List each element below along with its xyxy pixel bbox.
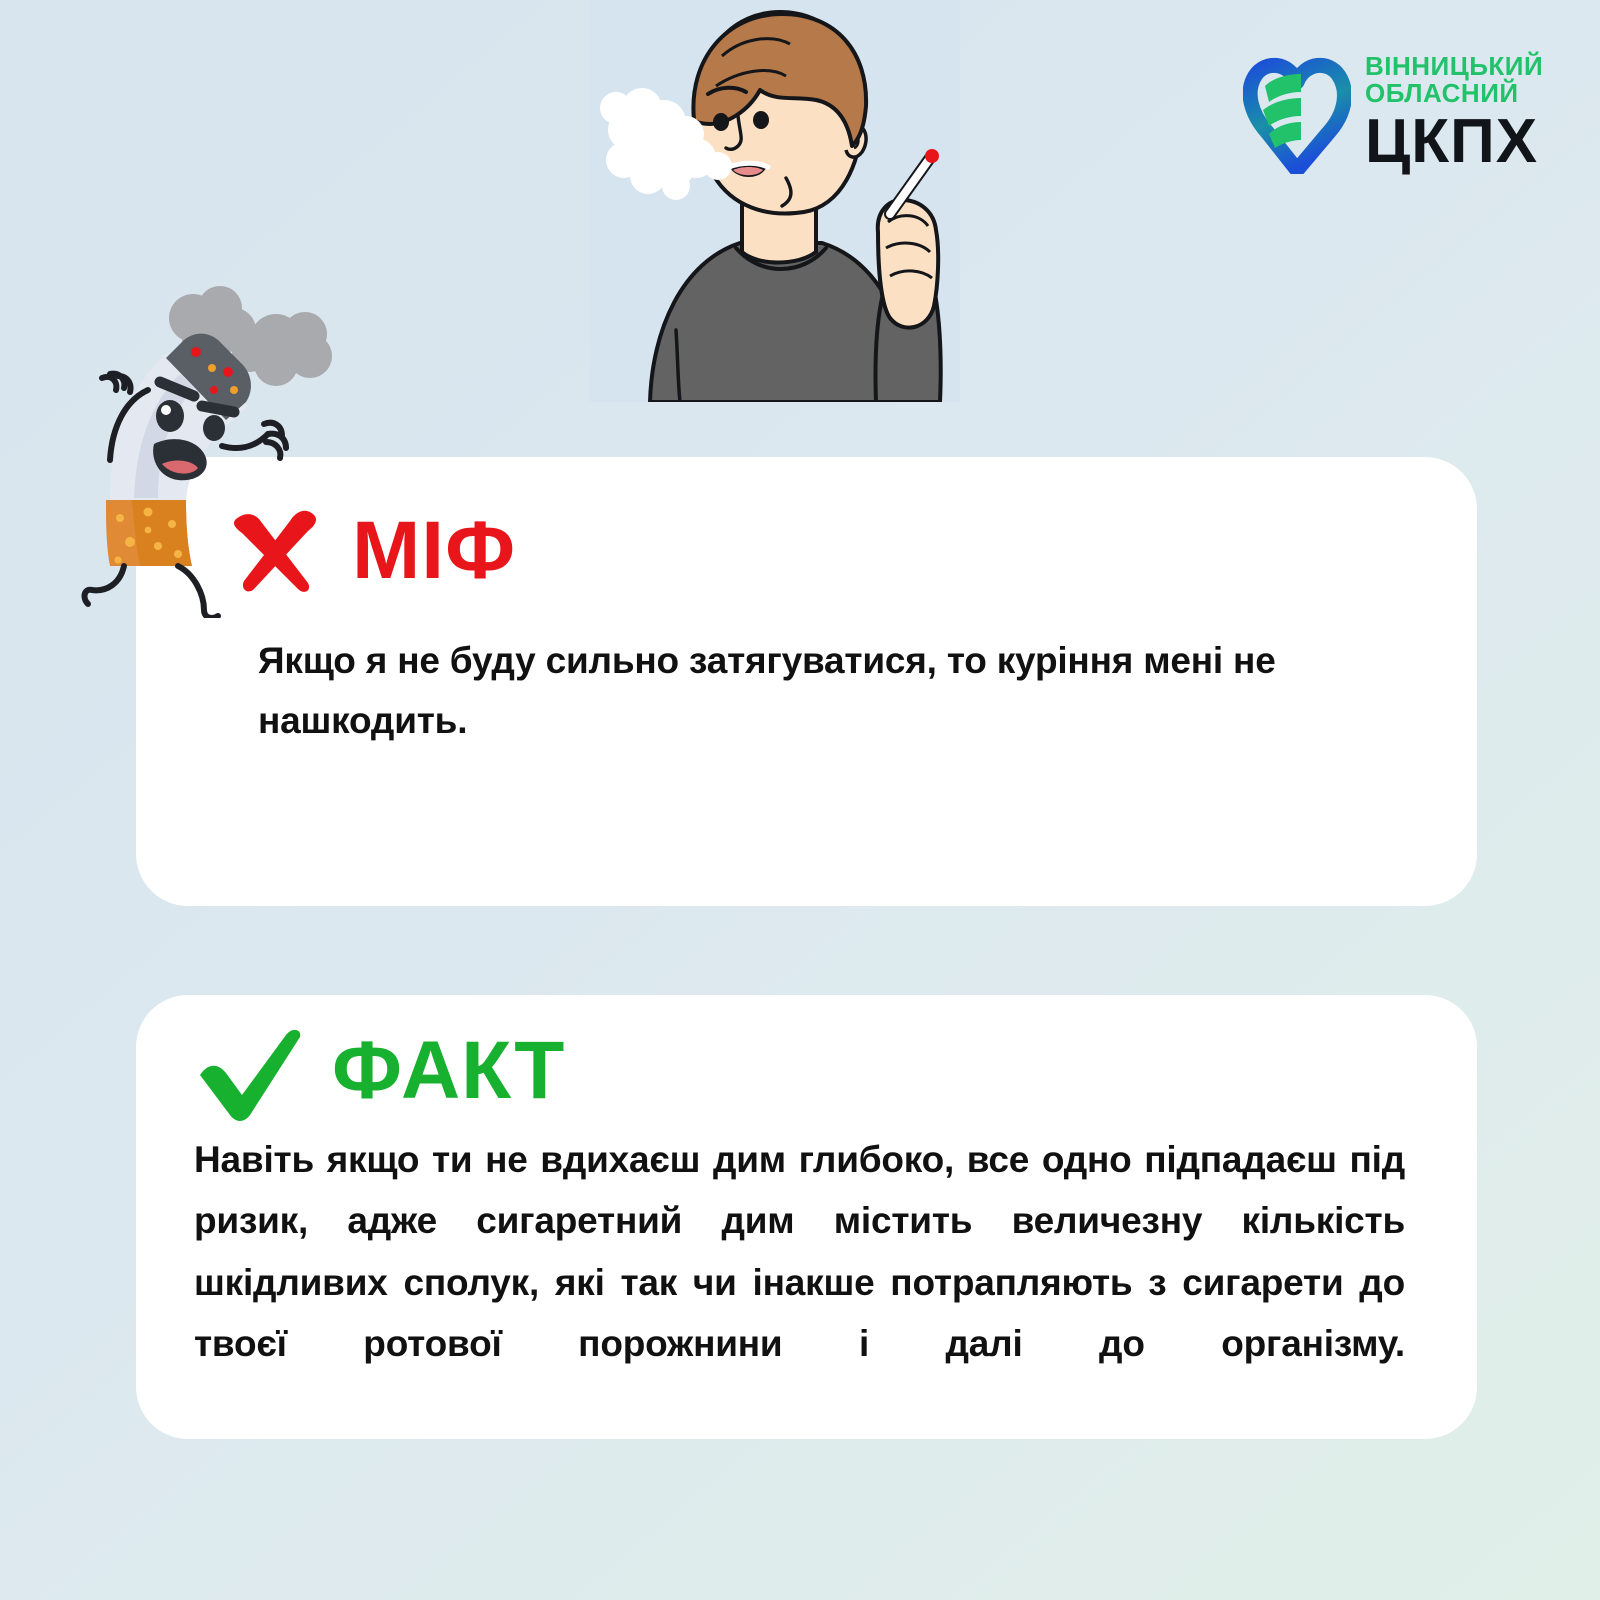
fact-label: ФАКТ [332, 1030, 565, 1112]
organization-logo: ВІННИЦЬКИЙ ОБЛАСНИЙ ЦКПХ [1243, 48, 1543, 178]
angry-cigarette-svg [62, 278, 352, 618]
hero-illustration [590, 0, 960, 402]
fact-card: ФАКТ Навіть якщо ти не вдихаєш дим глибо… [136, 995, 1477, 1439]
myth-label: МІФ [352, 510, 516, 592]
logo-abbreviation: ЦКПХ [1365, 110, 1543, 173]
angry-brow-right [202, 406, 234, 412]
mascot-illustration [62, 278, 352, 618]
fact-heading: ФАКТ [136, 995, 1477, 1123]
logo-text-block: ВІННИЦЬКИЙ ОБЛАСНИЙ ЦКПХ [1365, 53, 1543, 173]
leg-left [85, 566, 124, 604]
check-mark-icon [194, 1019, 306, 1123]
poster-root: МІФ Якщо я не буду сильно затягуватися, … [0, 0, 1600, 1600]
myth-text: Якщо я не буду сильно затягуватися, то к… [258, 631, 1359, 751]
leg-right [178, 566, 218, 618]
fact-text: Навіть якщо ти не вдихаєш дим глибоко, в… [194, 1129, 1405, 1436]
logo-line-2: ОБЛАСНИЙ [1365, 80, 1543, 108]
arm-right [222, 434, 268, 448]
man-smoking-svg [590, 0, 960, 402]
logo-line-1: ВІННИЦЬКИЙ [1365, 53, 1543, 81]
shield-heart-icon [1243, 52, 1351, 174]
